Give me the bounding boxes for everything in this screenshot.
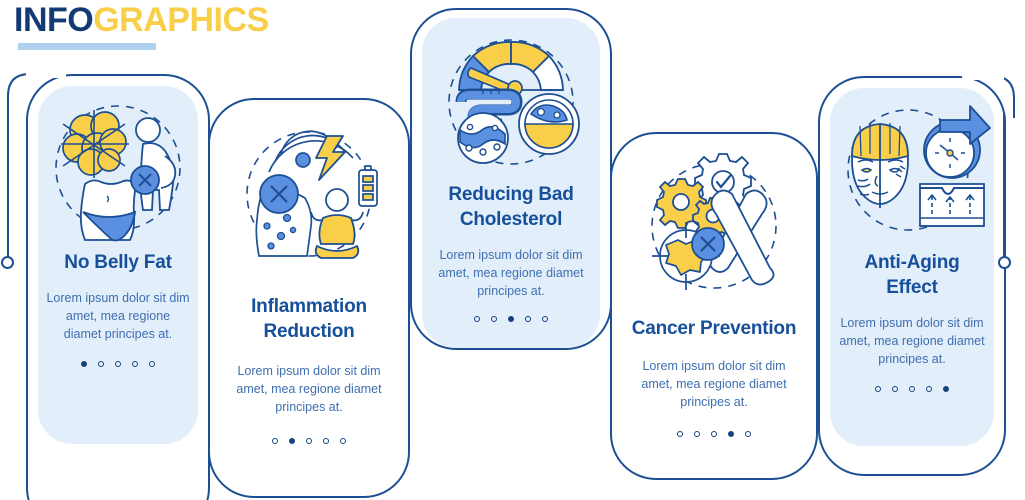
card-title: Anti-Aging Effect (838, 250, 986, 300)
title-part-info: INFO (14, 1, 93, 39)
right-connector-endpoint (998, 256, 1011, 269)
title-part-graphics: GRAPHICS (93, 1, 268, 39)
step-dot-1[interactable] (875, 386, 881, 392)
card-cancer-prevention[interactable]: Cancer Prevention Lorem ipsum dolor sit … (610, 132, 818, 480)
card-panel: Cancer Prevention Lorem ipsum dolor sit … (622, 142, 806, 474)
card-reducing-bad-cholesterol[interactable]: Reducing Bad Cholesterol Lorem ipsum dol… (410, 8, 612, 350)
title-underline-rule (18, 43, 156, 50)
step-dot-5[interactable] (943, 386, 949, 392)
card-panel: Reducing Bad Cholesterol Lorem ipsum dol… (422, 18, 600, 348)
card-inflammation-reduction[interactable]: Inflammation Reduction Lorem ipsum dolor… (208, 98, 410, 498)
card-anti-aging-effect[interactable]: Anti-Aging Effect Lorem ipsum dolor sit … (818, 76, 1006, 476)
card-panel: No Belly Fat Lorem ipsum dolor sit dim a… (38, 86, 198, 444)
card-body-text: Lorem ipsum dolor sit dim amet, mea regi… (228, 362, 390, 416)
step-dot-2[interactable] (491, 316, 497, 322)
card-no-belly-fat[interactable]: No Belly Fat Lorem ipsum dolor sit dim a… (26, 74, 210, 500)
step-dot-1[interactable] (81, 361, 87, 367)
step-dot-3[interactable] (306, 438, 312, 444)
step-dot-3[interactable] (711, 431, 717, 437)
left-connector-line (7, 112, 9, 264)
left-connector-endpoint (1, 256, 14, 269)
card-title: Reducing Bad Cholesterol (430, 182, 592, 232)
page-title: INFOGRAPHICS (14, 0, 269, 40)
card-body-text: Lorem ipsum dolor sit dim amet, mea regi… (838, 314, 986, 368)
card-body-text: Lorem ipsum dolor sit dim amet, mea regi… (46, 289, 190, 343)
right-connector-line (1003, 114, 1005, 264)
step-dot-2[interactable] (98, 361, 104, 367)
step-dot-5[interactable] (340, 438, 346, 444)
step-dot-5[interactable] (745, 431, 751, 437)
card-body-text: Lorem ipsum dolor sit dim amet, mea regi… (430, 246, 592, 300)
card-panel: Inflammation Reduction Lorem ipsum dolor… (220, 112, 398, 488)
step-dot-5[interactable] (149, 361, 155, 367)
card-title: No Belly Fat (64, 250, 171, 275)
step-dot-4[interactable] (926, 386, 932, 392)
step-dot-2[interactable] (694, 431, 700, 437)
step-dot-1[interactable] (474, 316, 480, 322)
step-indicator[interactable] (677, 431, 751, 437)
card-body-text: Lorem ipsum dolor sit dim amet, mea regi… (633, 357, 795, 411)
step-indicator[interactable] (81, 361, 155, 367)
inflammation-icon (219, 122, 399, 272)
card-panel: Anti-Aging Effect Lorem ipsum dolor sit … (830, 88, 994, 446)
step-dot-5[interactable] (542, 316, 548, 322)
step-dot-4[interactable] (525, 316, 531, 322)
step-indicator[interactable] (875, 386, 949, 392)
connector-mask (26, 72, 66, 78)
step-dot-4[interactable] (728, 431, 734, 437)
step-dot-4[interactable] (132, 361, 138, 367)
card-title: Inflammation Reduction (228, 294, 390, 344)
step-dot-3[interactable] (508, 316, 514, 322)
connector-mask (962, 74, 1004, 80)
step-dot-2[interactable] (289, 438, 295, 444)
step-indicator[interactable] (272, 438, 346, 444)
page-header: INFOGRAPHICS (14, 0, 269, 50)
step-dot-1[interactable] (272, 438, 278, 444)
card-title: Cancer Prevention (632, 316, 797, 341)
step-dot-4[interactable] (323, 438, 329, 444)
step-dot-3[interactable] (909, 386, 915, 392)
infographic-canvas: INFOGRAPHICS (0, 0, 1025, 500)
cancer-prevention-icon (624, 152, 804, 300)
step-indicator[interactable] (474, 316, 548, 322)
cholesterol-icon (425, 28, 597, 176)
step-dot-1[interactable] (677, 431, 683, 437)
step-dot-3[interactable] (115, 361, 121, 367)
step-dot-2[interactable] (892, 386, 898, 392)
